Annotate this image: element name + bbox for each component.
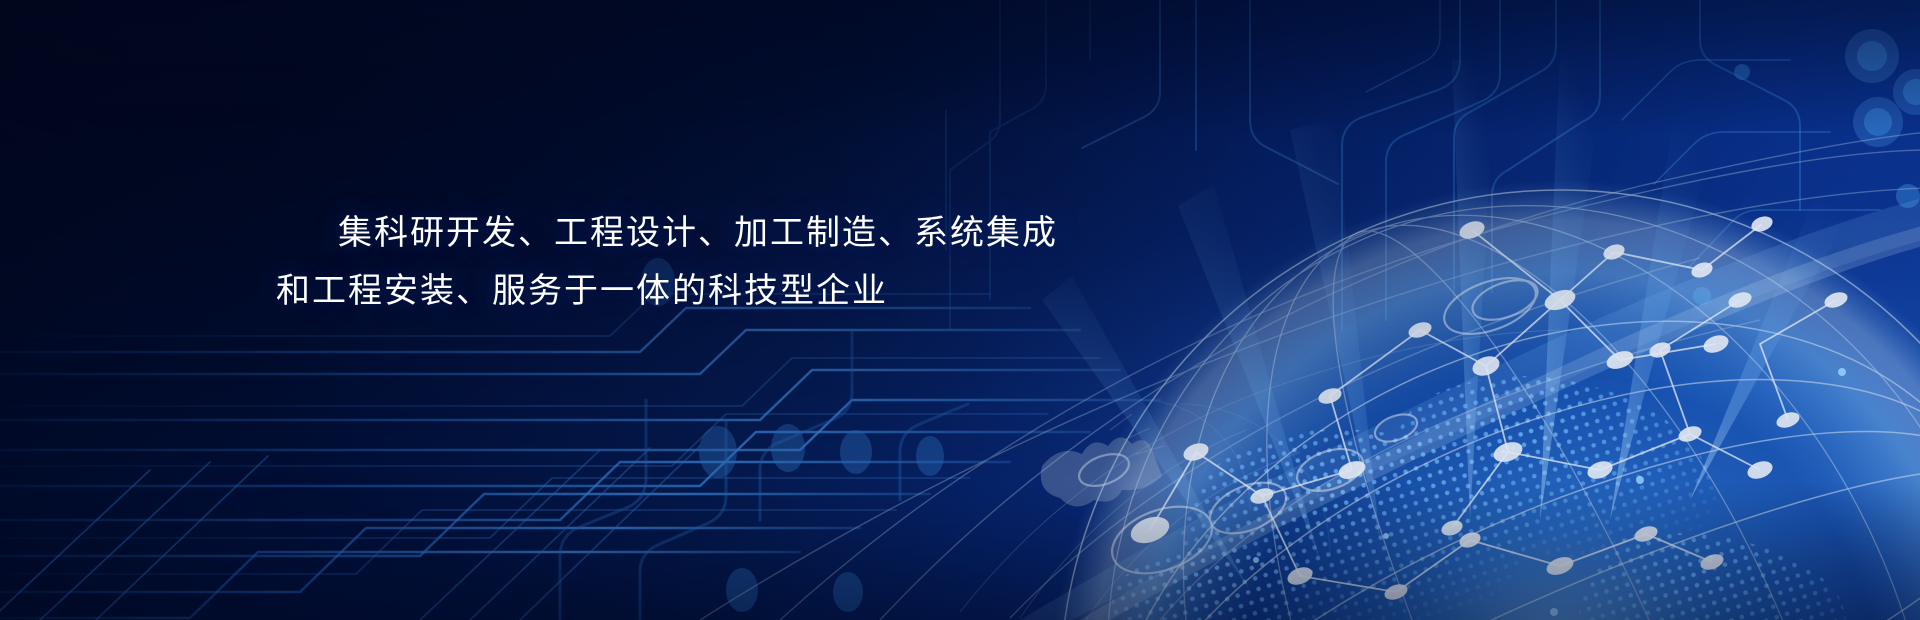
hero-banner: 集科研开发、工程设计、加工制造、系统集成 和工程安装、服务于一体的科技型企业 xyxy=(0,0,1920,620)
background-vignette xyxy=(0,0,1920,620)
